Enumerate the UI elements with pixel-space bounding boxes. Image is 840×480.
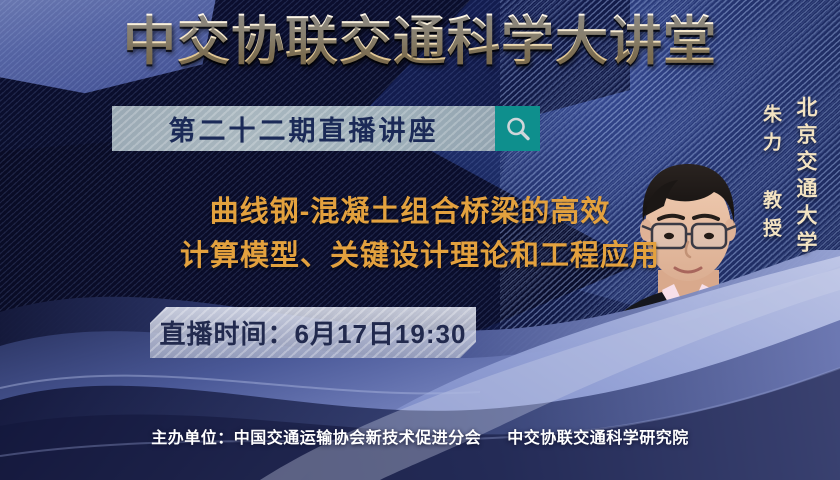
main-title: 中交协联交通科学大讲堂 (0, 11, 840, 73)
lecture-topic-line2: 计算模型、关键设计理论和工程应用 (0, 234, 840, 278)
organizer-name-2: 中交协联交通科学研究院 (507, 430, 689, 447)
organizer-footer: 主办单位：中国交通运输协会新技术促进分会中交协联交通科学研究院 (0, 424, 840, 448)
organizer-prefix: 主办单位： (151, 430, 234, 447)
speaker-name-title: 朱力 教授 (757, 104, 784, 246)
livestream-time-text: 直播时间：6月17日19:30 (160, 314, 467, 351)
organizer-name-1: 中国交通运输协会新技术促进分会 (234, 430, 482, 447)
livestream-time-badge: 直播时间：6月17日19:30 (150, 307, 476, 358)
search-icon[interactable] (495, 106, 540, 151)
speaker-university: 北京交通大学 (790, 96, 820, 258)
session-bar: 第二十二期直播讲座 (112, 106, 540, 151)
session-bar-body: 第二十二期直播讲座 (112, 106, 495, 151)
session-label: 第二十二期直播讲座 (169, 109, 439, 148)
livestream-poster: 中交协联交通科学大讲堂 中交协联交通科学大讲堂 第二十二期直播讲座 曲线钢-混凝… (0, 0, 840, 480)
lecture-topic-line1: 曲线钢-混凝土组合桥梁的高效 (0, 190, 840, 234)
lecture-topic: 曲线钢-混凝土组合桥梁的高效 计算模型、关键设计理论和工程应用 (0, 190, 840, 278)
